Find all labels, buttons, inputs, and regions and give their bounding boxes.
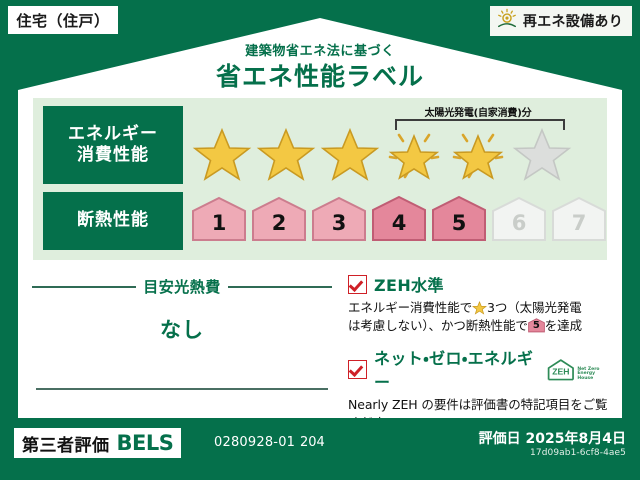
insulation-badge-2: 2 (251, 196, 307, 242)
zeh-body-part3: は考慮しない）、かつ断熱性能で (348, 318, 528, 333)
zeh-logo-subtext: Net ZeroEnergy House (577, 368, 610, 382)
insulation-badge-2-value: 2 (272, 211, 287, 242)
insulation-badge-1-value: 1 (212, 211, 227, 242)
insulation-badge-row: 1 2 (191, 196, 607, 242)
utility-cost-divider (36, 388, 328, 390)
performance-panel: エネルギー 消費性能 太陽光発電(自家消費)分 (33, 98, 607, 260)
insulation-performance-row: 断熱性能 1 (33, 192, 607, 250)
star-filled-2 (255, 124, 317, 182)
insulation-badge-6-value: 6 (512, 211, 527, 242)
insulation-badge-1: 1 (191, 196, 247, 242)
inline-badge-value: 5 (528, 318, 545, 334)
insulation-performance-value: 1 2 (183, 192, 607, 250)
zeh-column: ZEH水準 エネルギー消費性能で3つ（太陽光発電 は考慮しない）、かつ断熱性能で… (348, 272, 610, 433)
renewable-energy-chip: 再エネ設備あり (490, 6, 632, 36)
star-rating (191, 124, 573, 182)
star-empty-6 (511, 124, 573, 182)
insulation-badge-5-value: 5 (452, 211, 467, 242)
energy-label-root: 住宅（住戸） 再エネ設備あり 建築物省エネ法に基づく 省エネ性能ラベ (0, 0, 640, 480)
footer-bar: 第三者評価 BELS 0280928-01 204 評価日 2025年8月4日 … (0, 424, 640, 480)
renewable-chip-label: 再エネ設備あり (523, 11, 623, 31)
svg-text:ZEH: ZEH (552, 366, 569, 376)
category-chip-label: 住宅（住戸） (16, 10, 109, 31)
bels-chip: 第三者評価 BELS (14, 428, 181, 458)
lower-section: 目安光熱費 なし ZEH水準 エネルギー消費性能で3つ（太陽光発電 は考慮しない… (18, 266, 622, 418)
insulation-badge-5: 5 (431, 196, 487, 242)
insulation-badge-3-value: 3 (332, 211, 347, 242)
heading-rule-right (228, 286, 332, 288)
star-filled-solar-4 (383, 124, 445, 182)
star-filled-1 (191, 124, 253, 182)
zeh-standard-title: ZEH水準 (374, 272, 444, 296)
heading-rule-left (32, 286, 136, 288)
insulation-key-label: 断熱性能 (77, 210, 149, 231)
evaluation-date: 評価日 2025年8月4日 (416, 428, 626, 448)
zeh-body-part2: 3つ（太陽光発電 (487, 300, 582, 315)
checkbox-checked-icon (348, 275, 367, 294)
energy-key-line1: エネルギー (68, 124, 158, 145)
utility-cost-heading: 目安光熱費 (32, 276, 332, 297)
evaluation-hash: 17d09ab1-6cf8-4ae5 (416, 448, 626, 458)
zeh-netzero-header: ネット・ゼロ・エネルギー ZEH Net ZeroEnergy House (348, 345, 610, 393)
insulation-badge-4-value: 4 (392, 211, 407, 242)
zeh-body-part4: を達成 (545, 318, 582, 333)
zeh-standard-body: エネルギー消費性能で3つ（太陽光発電 は考慮しない）、かつ断熱性能で5を達成 (348, 299, 610, 335)
house-card: 建築物省エネ法に基づく 省エネ性能ラベル エネルギー 消費性能 太陽光発電(自家… (18, 18, 622, 418)
insulation-badge-7: 7 (551, 196, 607, 242)
page-title: 省エネ性能ラベル (18, 57, 622, 93)
solar-annotation-label: 太陽光発電(自家消費)分 (388, 104, 568, 119)
insulation-badge-3: 3 (311, 196, 367, 242)
zeh-standard-header: ZEH水準 (348, 272, 610, 296)
zeh-house-logo-icon: ZEH Net ZeroEnergy House (545, 357, 610, 382)
utility-cost-value: なし (32, 314, 332, 344)
bels-en-label: BELS (117, 431, 174, 455)
zeh-body-part1: エネルギー消費性能で (348, 300, 472, 315)
star-filled-solar-5 (447, 124, 509, 182)
energy-performance-key: エネルギー 消費性能 (43, 106, 183, 184)
inline-star-icon (472, 300, 487, 315)
certificate-number: 0280928-01 (214, 435, 295, 450)
insulation-performance-key: 断熱性能 (43, 192, 183, 250)
category-chip: 住宅（住戸） (8, 6, 118, 34)
utility-cost-label: 目安光熱費 (143, 276, 221, 297)
zeh-netzero-title: ネット・ゼロ・エネルギー (374, 345, 538, 393)
inline-insulation-badge-icon: 5 (528, 318, 545, 333)
certificate-extra-number: 204 (300, 435, 325, 450)
energy-performance-value: 太陽光発電(自家消費)分 (183, 106, 607, 184)
energy-performance-row: エネルギー 消費性能 太陽光発電(自家消費)分 (33, 106, 607, 184)
insulation-badge-7-value: 7 (572, 211, 587, 242)
bels-jp-label: 第三者評価 (22, 431, 110, 456)
star-filled-3 (319, 124, 381, 182)
sun-solar-icon (496, 8, 518, 34)
insulation-badge-6: 6 (491, 196, 547, 242)
insulation-badge-4: 4 (371, 196, 427, 242)
energy-key-line2: 消費性能 (77, 145, 149, 166)
checkbox-checked-icon-2 (348, 360, 367, 379)
